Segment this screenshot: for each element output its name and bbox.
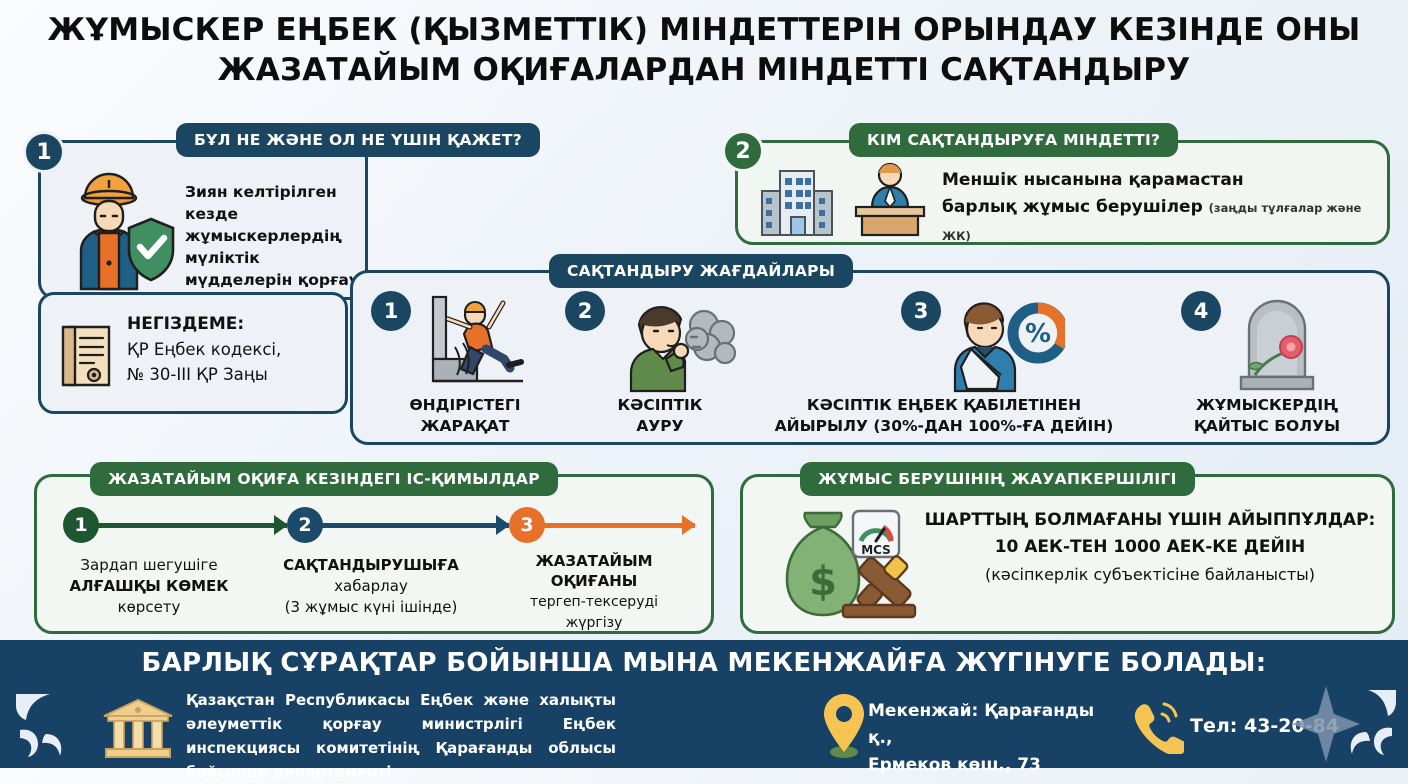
- case-4-label-line2: ҚАЙТЫС БОЛУЫ: [1153, 416, 1381, 437]
- case-2-label-line2: АУРУ: [565, 416, 755, 437]
- step-2-text: САҚТАНДЫРУШЫҒА хабарлау (3 жұмыс күні іш…: [259, 555, 483, 618]
- step-2-line2: хабарлау: [334, 577, 408, 595]
- page-title-line2: ЖАЗАТАЙЫМ ОҚИҒАЛАРДАН МІНДЕТТІ САҚТАНДЫР…: [0, 50, 1408, 90]
- legal-basis-line1: ҚР Еңбек кодексі,: [127, 340, 281, 359]
- card1-text: Зиян келтірілген кезде жұмыскерлердің мү…: [185, 181, 361, 291]
- footer-address-line2: Ермеков көш., 73: [868, 755, 1041, 775]
- legal-basis-box: НЕГІЗДЕМЕ: ҚР Еңбек кодексі, № 30-III ҚР…: [38, 292, 348, 414]
- card2-text-line1: Меншік нысанына қарамастан: [942, 170, 1244, 190]
- worker-falling-icon: [417, 295, 537, 393]
- case-2-number-badge: 2: [565, 291, 605, 331]
- case-1-label-line1: ӨНДІРІСТЕГІ: [371, 395, 559, 416]
- case-1-label-line2: ЖАРАҚАТ: [371, 416, 559, 437]
- infographic-page: ЖҰМЫСКЕР ЕҢБЕК (ҚЫЗМЕТТІК) МІНДЕТТЕРІН О…: [0, 0, 1408, 768]
- step-2-line3: (3 жұмыс күні ішінде): [285, 598, 458, 616]
- steps-header: ЖАЗАТАЙЫМ ОҚИҒА КЕЗІНДЕГІ ІС-ҚИМЫЛДАР: [90, 462, 558, 496]
- step-2-line1: САҚТАНДЫРУШЫҒА: [283, 556, 459, 574]
- page-title: ЖҰМЫСКЕР ЕҢБЕК (ҚЫЗМЕТТІК) МІНДЕТТЕРІН О…: [0, 10, 1408, 90]
- card2-text: Меншік нысанына қарамастан барлық жұмыс …: [942, 167, 1382, 250]
- step-arrow-1: [87, 523, 287, 528]
- step-1-line2: АЛҒАШҚЫ КӨМЕК: [69, 577, 228, 595]
- step-3-line2: ОҚИҒАНЫ: [551, 572, 638, 590]
- card-what-is-it: 1 Зиян келтірілген кезде жұмыскерлердің …: [38, 140, 368, 300]
- card-employer-liability: $ MCS ШАРТТЫҢ БОЛМАҒАНЫ ҮШІН АЙЫППҰЛДАР:…: [740, 474, 1395, 634]
- step-3-line1: ЖАЗАТАЙЫМ: [535, 552, 652, 570]
- footer-address-line1: Мекенжай: Қарағанды қ.,: [868, 701, 1094, 748]
- legal-basis-line2: № 30-III ҚР Заңы: [127, 365, 268, 384]
- card2-header: КІМ САҚТАНДЫРУҒА МІНДЕТТІ?: [849, 123, 1178, 157]
- case-1-number-badge: 1: [371, 291, 411, 331]
- card1-number-badge: 1: [23, 131, 65, 173]
- card-accident-actions: 1 2 3 Зардап шегушіге АЛҒАШҚЫ КӨМЕК көрс…: [34, 474, 714, 634]
- svg-text:$: $: [809, 559, 837, 605]
- step-1-number-badge: 1: [63, 507, 99, 543]
- step-3-line4: жүргізу: [566, 615, 623, 631]
- step-arrow-2: [309, 523, 509, 528]
- liability-line2: 10 АЕК-ТЕН 1000 АЕК-КЕ ДЕЙІН: [995, 537, 1306, 557]
- footer-title: БАРЛЫҚ СҰРАҚТАР БОЙЫНША МЫНА МЕКЕНЖАЙҒА …: [0, 648, 1408, 678]
- gravestone-flower-icon: [1229, 293, 1325, 393]
- case-3-number-badge: 3: [901, 291, 941, 331]
- ornament-icon-right: [1290, 684, 1400, 764]
- footer-department: Қазақстан Республикасы Еңбек және халықт…: [186, 688, 616, 784]
- ornament-icon: [12, 690, 102, 762]
- map-pin-icon: [822, 692, 866, 760]
- card1-header: БҰЛ НЕ ЖӘНЕ ОЛ НЕ ҮШІН ҚАЖЕТ?: [176, 123, 540, 157]
- step-1-line3: көрсету: [118, 598, 181, 616]
- legal-basis-text: НЕГІЗДЕМЕ: ҚР Еңбек кодексі, № 30-III ҚР…: [127, 311, 342, 387]
- money-bag-gavel-icon: $ MCS: [773, 507, 923, 619]
- page-title-line1: ЖҰМЫСКЕР ЕҢБЕК (ҚЫЗМЕТТІК) МІНДЕТТЕРІН О…: [48, 12, 1361, 48]
- coughing-worker-icon: [609, 295, 737, 393]
- card2-text-line2: барлық жұмыс берушілер: [942, 197, 1203, 217]
- step-arrow-3: [531, 523, 695, 528]
- liability-text: ШАРТТЫҢ БОЛМАҒАНЫ ҮШІН АЙЫППҰЛДАР: 10 АЕ…: [921, 507, 1379, 589]
- footer-bar: БАРЛЫҚ СҰРАҚТАР БОЙЫНША МЫНА МЕКЕНЖАЙҒА …: [0, 640, 1408, 768]
- svg-text:MCS: MCS: [861, 543, 891, 557]
- case-2-label-line1: КӘСІПТІК: [565, 395, 755, 416]
- liability-line1: ШАРТТЫҢ БОЛМАҒАНЫ ҮШІН АЙЫППҰЛДАР:: [925, 510, 1376, 530]
- step-1-text: Зардап шегушіге АЛҒАШҚЫ КӨМЕК көрсету: [45, 555, 253, 618]
- step-1-line1: Зардап шегушіге: [80, 556, 217, 574]
- footer-address: Мекенжай: Қарағанды қ., Ермеков көш., 73: [868, 698, 1118, 779]
- legal-basis-label: НЕГІЗДЕМЕ:: [127, 314, 244, 334]
- card-insurance-cases: 1 ӨНДІРІСТЕГІ ЖАРАҚАТ 2: [350, 270, 1390, 445]
- phone-icon: [1128, 698, 1184, 754]
- liability-line3: (кәсіпкерлік субъектісіне байланысты): [985, 565, 1315, 584]
- svg-text:%: %: [1025, 319, 1051, 349]
- injured-arm-percent-icon: %: [947, 293, 1065, 393]
- step-2-number-badge: 2: [287, 507, 323, 543]
- bank-icon: [100, 698, 176, 760]
- card2-number-badge: 2: [722, 130, 764, 172]
- case-4-number-badge: 4: [1181, 291, 1221, 331]
- case-4-label-line1: ЖҰМЫСКЕРДІҢ: [1153, 395, 1381, 416]
- step-3-line3: тергеп-тексеруді: [530, 594, 658, 610]
- building-icon: [760, 165, 840, 237]
- case-3-label-line1: КӘСІПТІК ЕҢБЕК ҚАБІЛЕТІНЕН: [751, 395, 1137, 416]
- step-3-number-badge: 3: [509, 507, 545, 543]
- liability-header: ЖҰМЫС БЕРУШІНІҢ ЖАУАПКЕРШІЛІГІ: [800, 462, 1195, 496]
- case-3-label-line2: АЙЫРЫЛУ (30%-ДАН 100%-ҒА ДЕЙІН): [751, 416, 1137, 437]
- step-3-text: ЖАЗАТАЙЫМ ОҚИҒАНЫ тергеп-тексеруді жүргі…: [489, 551, 699, 633]
- cases-header: САҚТАНДЫРУ ЖАҒДАЙЛАРЫ: [549, 254, 853, 288]
- document-scroll-icon: [59, 321, 117, 389]
- worker-shield-icon: [59, 171, 177, 291]
- employer-desk-icon: [850, 161, 930, 239]
